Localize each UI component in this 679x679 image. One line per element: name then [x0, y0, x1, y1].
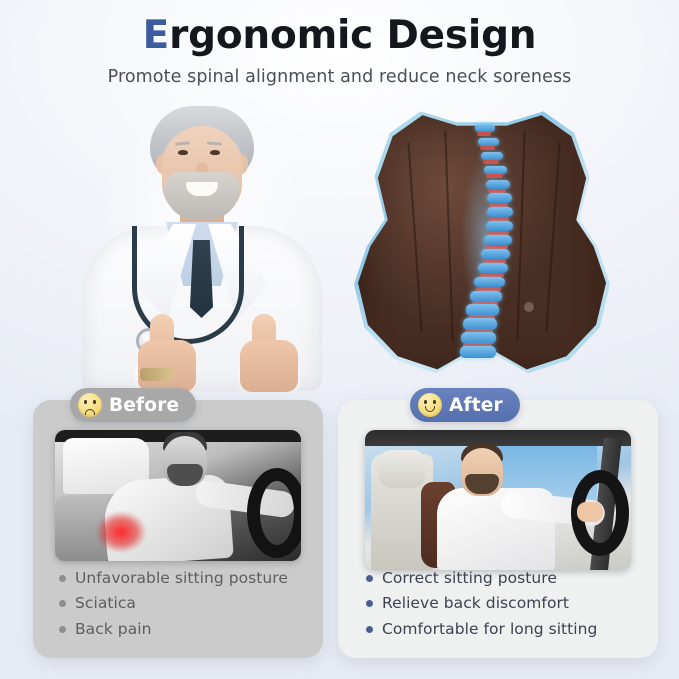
vertebra	[478, 138, 499, 146]
driver-hand	[577, 502, 603, 522]
pain-indicator	[87, 504, 155, 560]
vertebra	[460, 346, 496, 358]
header: Ergonomic Design Promote spinal alignmen…	[0, 0, 679, 87]
wristwatch	[140, 368, 174, 381]
happy-face-emoji	[418, 393, 442, 417]
bullet-dot-icon	[366, 626, 373, 633]
comparison-section: Before Unfav	[0, 396, 679, 662]
vertebra	[475, 124, 495, 132]
list-item: Relieve back discomfort	[366, 593, 597, 614]
list-item: Correct sitting posture	[366, 568, 597, 589]
vertebra	[487, 193, 512, 202]
car-headrest	[379, 450, 425, 488]
vertebra	[484, 166, 507, 175]
title-accent-letter: E	[143, 13, 169, 58]
spinal-disc	[488, 189, 506, 193]
spinal-disc	[477, 132, 491, 136]
after-badge-label: After	[449, 395, 503, 416]
vertebra	[487, 207, 513, 217]
bullet-dot-icon	[59, 575, 66, 582]
thumbs-up-right-icon	[240, 314, 300, 392]
vertebra	[466, 304, 499, 315]
hero-section	[0, 96, 679, 391]
bullet-label: Comfortable for long sitting	[382, 619, 597, 640]
after-photo	[365, 430, 631, 570]
after-badge: After	[410, 388, 520, 422]
vertebra	[470, 291, 502, 302]
before-badge-label: Before	[109, 395, 179, 416]
before-bullet-list: Unfavorable sitting posture Sciatica Bac…	[59, 568, 288, 644]
vertebra	[474, 277, 505, 288]
vertebra	[481, 249, 510, 259]
bullet-label: Back pain	[75, 619, 151, 640]
spinal-disc	[489, 203, 508, 207]
product-image	[352, 102, 612, 382]
bullet-label: Unfavorable sitting posture	[75, 568, 288, 589]
vertebra	[478, 263, 508, 274]
spinal-disc	[480, 146, 495, 150]
after-card: After	[338, 400, 658, 658]
list-item: Sciatica	[59, 593, 288, 614]
vertebra	[463, 318, 497, 330]
before-card: Before Unfav	[33, 400, 323, 658]
steering-wheel	[247, 468, 301, 558]
spinal-disc	[483, 160, 499, 164]
doctor-eye-right	[210, 150, 220, 155]
after-bullet-list: Correct sitting posture Relieve back dis…	[366, 568, 597, 644]
vertebra	[486, 221, 513, 231]
bullet-label: Correct sitting posture	[382, 568, 557, 589]
list-item: Unfavorable sitting posture	[59, 568, 288, 589]
product-logo	[524, 302, 534, 312]
bullet-dot-icon	[59, 626, 66, 633]
bullet-dot-icon	[366, 575, 373, 582]
before-badge: Before	[70, 388, 196, 422]
list-item: Comfortable for long sitting	[366, 619, 597, 640]
spinal-disc	[486, 174, 503, 178]
doctor-image	[58, 96, 348, 391]
product-feature-page: Ergonomic Design Promote spinal alignmen…	[0, 0, 679, 679]
before-photo	[55, 430, 301, 561]
page-subtitle: Promote spinal alignment and reduce neck…	[0, 67, 679, 87]
page-title: Ergonomic Design	[0, 0, 679, 57]
vertebra	[481, 152, 503, 161]
bullet-dot-icon	[366, 600, 373, 607]
sad-face-emoji	[78, 393, 102, 417]
bullet-label: Sciatica	[75, 593, 136, 614]
vertebra	[461, 332, 496, 344]
bullet-label: Relieve back discomfort	[382, 593, 569, 614]
list-item: Back pain	[59, 619, 288, 640]
vertebra	[484, 235, 512, 245]
title-rest: rgonomic Design	[169, 13, 536, 58]
spine-overlay-icon	[456, 120, 514, 358]
bullet-dot-icon	[59, 600, 66, 607]
doctor-eye-left	[178, 150, 188, 155]
vertebra	[486, 180, 510, 189]
